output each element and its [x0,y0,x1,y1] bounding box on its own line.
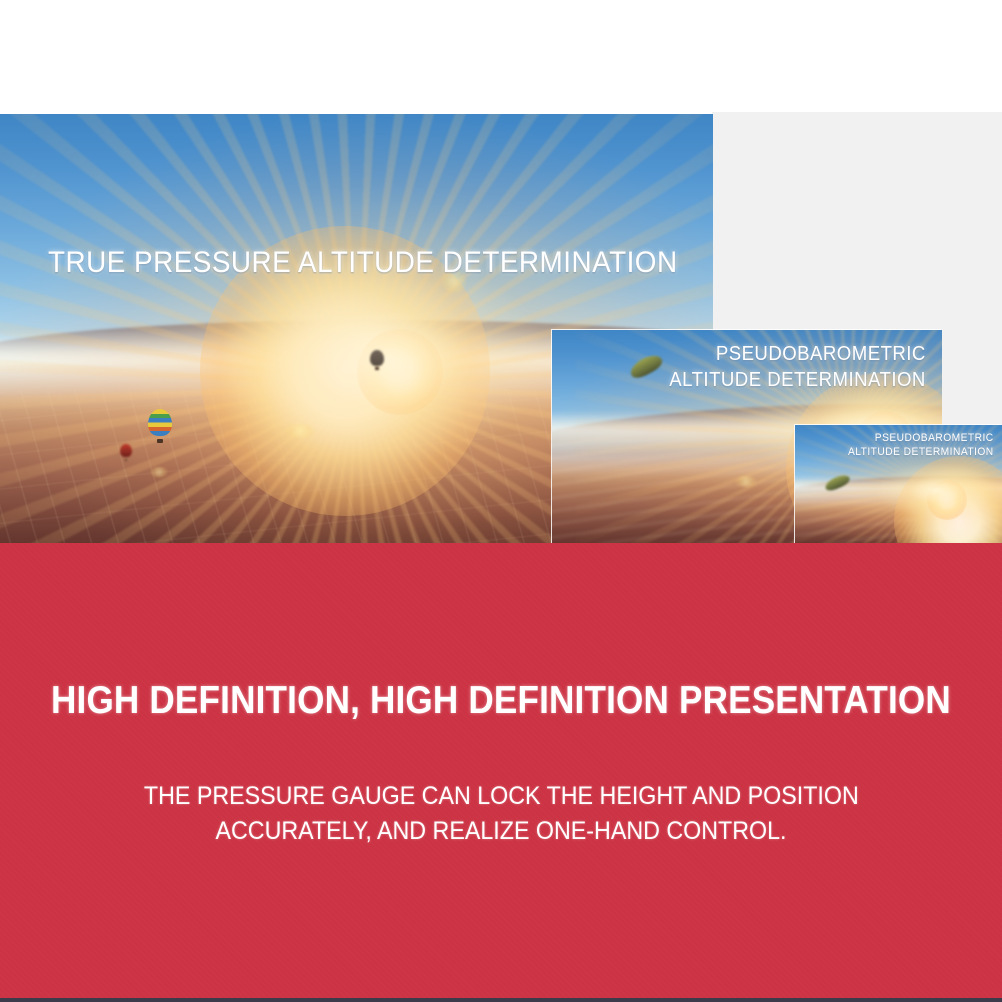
balloon-basket [375,367,378,370]
sun-core [927,480,967,520]
second-card-caption: PSEUDOBAROMETRIC ALTITUDE DETERMINATION [669,342,926,393]
sun-core [357,329,443,415]
second-card-caption-line2: ALTITUDE DETERMINATION [669,368,926,394]
subhead-line-2: ACCURATELY, AND REALIZE ONE-HAND CONTROL… [0,814,1002,849]
balloon-red [120,444,132,461]
subhead: THE PRESSURE GAUGE CAN LOCK THE HEIGHT A… [0,779,1002,848]
third-card-caption-line2: ALTITUDE DETERMINATION [848,445,994,459]
balloon-envelope [120,444,132,457]
headline: HIGH DEFINITION, HIGH DEFINITION PRESENT… [0,681,1002,722]
lens-flare-1 [285,424,315,438]
lens-flare-1 [735,476,757,487]
main-card-caption: TRUE PRESSURE ALTITUDE DETERMINATION [48,244,678,282]
third-photo-card[interactable]: PSEUDOBAROMETRIC ALTITUDE DETERMINATION [795,425,1002,544]
lens-flare-2 [150,467,168,477]
banner-stage: TRUE PRESSURE ALTITUDE DETERMINATION PSE… [0,0,1002,1002]
balloon-basket [125,459,128,461]
balloon-distant [370,350,384,370]
balloon-envelope [370,350,384,366]
second-card-caption-line1: PSEUDOBAROMETRIC [669,342,926,368]
subhead-line-1: THE PRESSURE GAUGE CAN LOCK THE HEIGHT A… [0,779,1002,814]
third-card-caption-line1: PSEUDOBAROMETRIC [848,431,994,445]
balloon-green-striped [148,409,172,443]
red-texture-overlay [0,543,1002,998]
bottom-strip [0,998,1002,1002]
third-card-caption: PSEUDOBAROMETRIC ALTITUDE DETERMINATION [848,431,994,459]
balloon-envelope [148,409,172,436]
subhead-line-1-text: THE PRESSURE GAUGE CAN LOCK THE HEIGHT A… [144,779,859,814]
subhead-line-2-text: ACCURATELY, AND REALIZE ONE-HAND CONTROL… [215,814,786,849]
balloon-basket [157,439,163,443]
headline-text: HIGH DEFINITION, HIGH DEFINITION PRESENT… [51,681,951,722]
red-text-section: HIGH DEFINITION, HIGH DEFINITION PRESENT… [0,543,1002,998]
